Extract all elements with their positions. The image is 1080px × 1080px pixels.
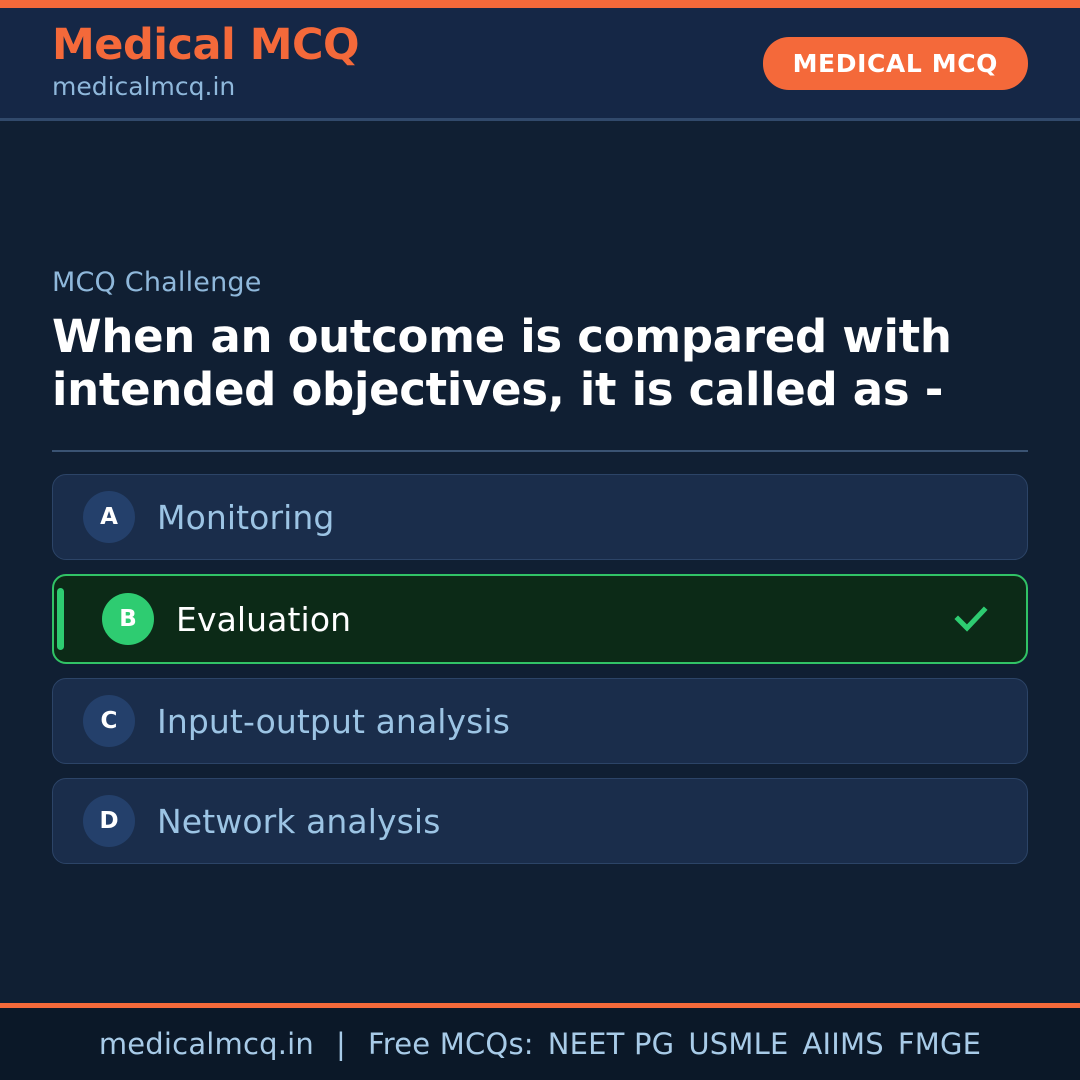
option-letter-badge: A [83, 491, 135, 543]
option-label: Network analysis [157, 802, 441, 841]
main-content: MCQ Challenge When an outcome is compare… [0, 121, 1080, 1003]
page-footer: medicalmcq.in | Free MCQs: NEET PG USMLE… [0, 1008, 1080, 1080]
option-row-a[interactable]: AMonitoring [52, 474, 1028, 560]
option-label: Evaluation [176, 600, 351, 639]
question-block: MCQ Challenge When an outcome is compare… [52, 267, 1028, 416]
option-label: Input-output analysis [157, 702, 510, 741]
option-letter-badge: B [102, 593, 154, 645]
correct-accent-bar [57, 588, 64, 650]
brand-subtitle: medicalmcq.in [52, 71, 359, 104]
brand: Medical MCQ medicalmcq.in [52, 23, 359, 103]
question-text: When an outcome is compared with intende… [52, 310, 982, 416]
option-label: Monitoring [157, 498, 334, 537]
option-letter-badge: C [83, 695, 135, 747]
page-header: Medical MCQ medicalmcq.in MEDICAL MCQ [0, 8, 1080, 121]
footer-site: medicalmcq.in [99, 1027, 314, 1061]
option-row-b[interactable]: BEvaluation [52, 574, 1028, 664]
brand-title: Medical MCQ [52, 23, 359, 69]
footer-exam: AIIMS [803, 1027, 884, 1061]
header-badge: MEDICAL MCQ [763, 37, 1028, 90]
footer-exam: USMLE [688, 1027, 788, 1061]
footer-exam: FMGE [898, 1027, 981, 1061]
option-letter-badge: D [83, 795, 135, 847]
option-row-d[interactable]: DNetwork analysis [52, 778, 1028, 864]
option-row-c[interactable]: CInput-output analysis [52, 678, 1028, 764]
mcq-card-page: Medical MCQ medicalmcq.in MEDICAL MCQ MC… [0, 0, 1080, 1080]
check-icon [950, 598, 992, 640]
question-divider [52, 450, 1028, 452]
footer-exam: NEET PG [548, 1027, 675, 1061]
options-list: AMonitoringBEvaluationCInput-output anal… [52, 474, 1028, 864]
footer-separator: | [336, 1027, 346, 1061]
footer-prefix: Free MCQs: [368, 1027, 534, 1061]
question-eyebrow: MCQ Challenge [52, 267, 1028, 298]
top-accent-bar [0, 0, 1080, 8]
